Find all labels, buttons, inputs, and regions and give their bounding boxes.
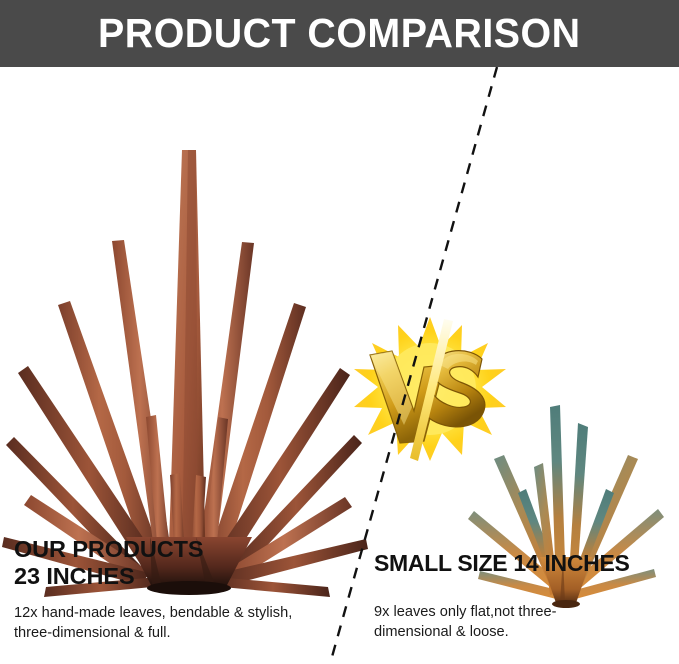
vs-badge bbox=[352, 315, 508, 463]
page-title: PRODUCT COMPARISON bbox=[98, 13, 580, 54]
caption-our-product: OUR PRODUCTS 23 INCHES 12x hand-made lea… bbox=[14, 536, 344, 644]
caption-small-size: SMALL SIZE 14 INCHES 9x leaves only flat… bbox=[374, 550, 670, 643]
product-image-our-product bbox=[0, 145, 370, 600]
header-banner: PRODUCT COMPARISON bbox=[0, 0, 679, 67]
caption-left-body: 12x hand-made leaves, bendable & stylish… bbox=[14, 604, 344, 644]
caption-left-heading: OUR PRODUCTS 23 INCHES bbox=[14, 536, 344, 591]
caption-right-heading: SMALL SIZE 14 INCHES bbox=[374, 550, 670, 577]
agave-leaves-large bbox=[2, 150, 368, 597]
caption-right-body: 9x leaves only flat,not three- dimension… bbox=[374, 603, 670, 643]
